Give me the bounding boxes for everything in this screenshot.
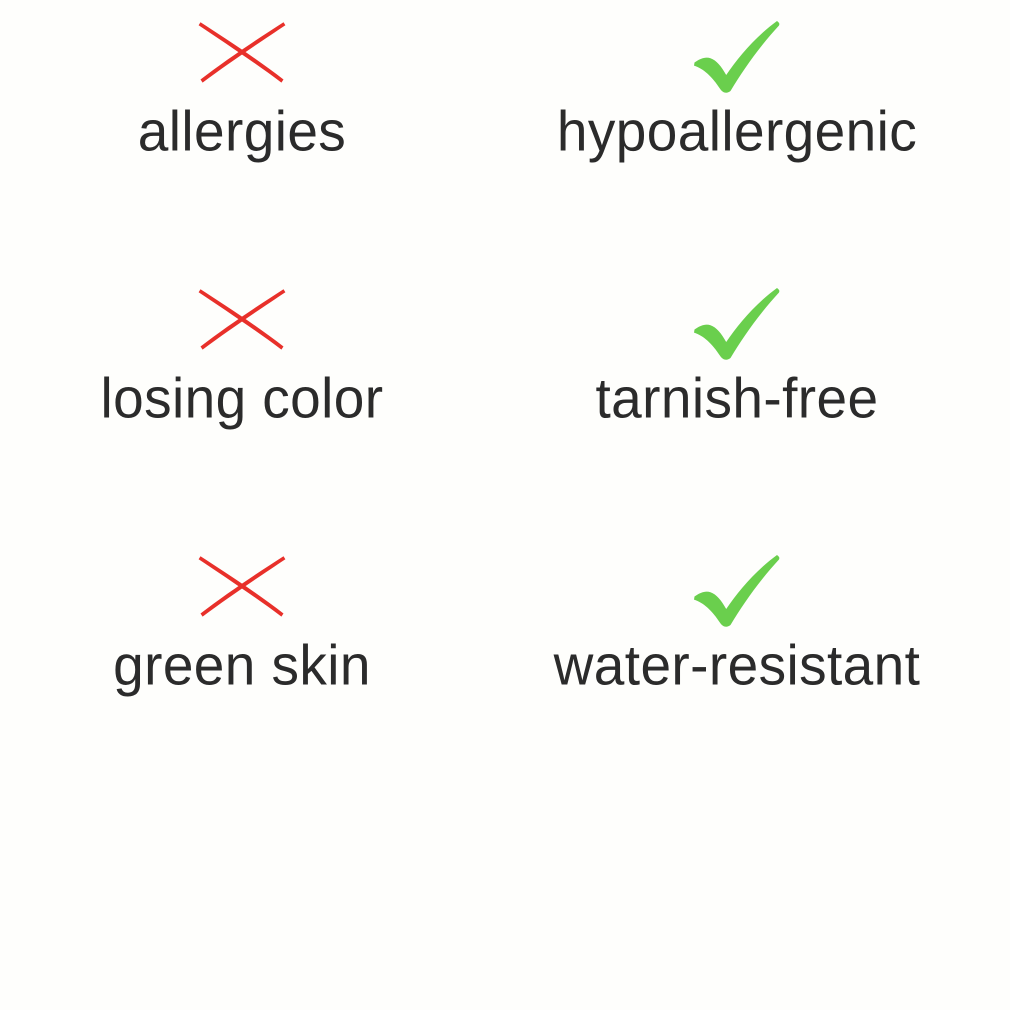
check-icon <box>691 0 783 96</box>
check-icon <box>691 534 783 630</box>
comparison-cell-pro-3: water-resistant <box>495 534 1010 801</box>
empty-footer-area <box>0 848 1010 1010</box>
comparison-cell-con-1: allergies <box>0 0 495 267</box>
comparison-board: allergies hypoallergenic losing color <box>0 0 1010 1010</box>
comparison-cell-con-2: losing color <box>0 267 495 534</box>
comparison-label-pro-2: tarnish-free <box>596 369 879 428</box>
comparison-label-con-1: allergies <box>138 102 346 161</box>
comparison-label-pro-1: hypoallergenic <box>557 102 917 161</box>
comparison-label-con-3: green skin <box>113 636 371 695</box>
comparison-label-con-2: losing color <box>101 369 384 428</box>
cross-icon <box>195 534 289 630</box>
comparison-cell-pro-2: tarnish-free <box>495 267 1010 534</box>
cross-icon <box>195 267 289 363</box>
comparison-label-pro-3: water-resistant <box>554 636 921 695</box>
cross-icon <box>195 0 289 96</box>
comparison-cell-con-3: green skin <box>0 534 495 801</box>
comparison-cell-pro-1: hypoallergenic <box>495 0 1010 267</box>
check-icon <box>691 267 783 363</box>
benefit-comparison-grid: allergies hypoallergenic losing color <box>0 0 1010 848</box>
